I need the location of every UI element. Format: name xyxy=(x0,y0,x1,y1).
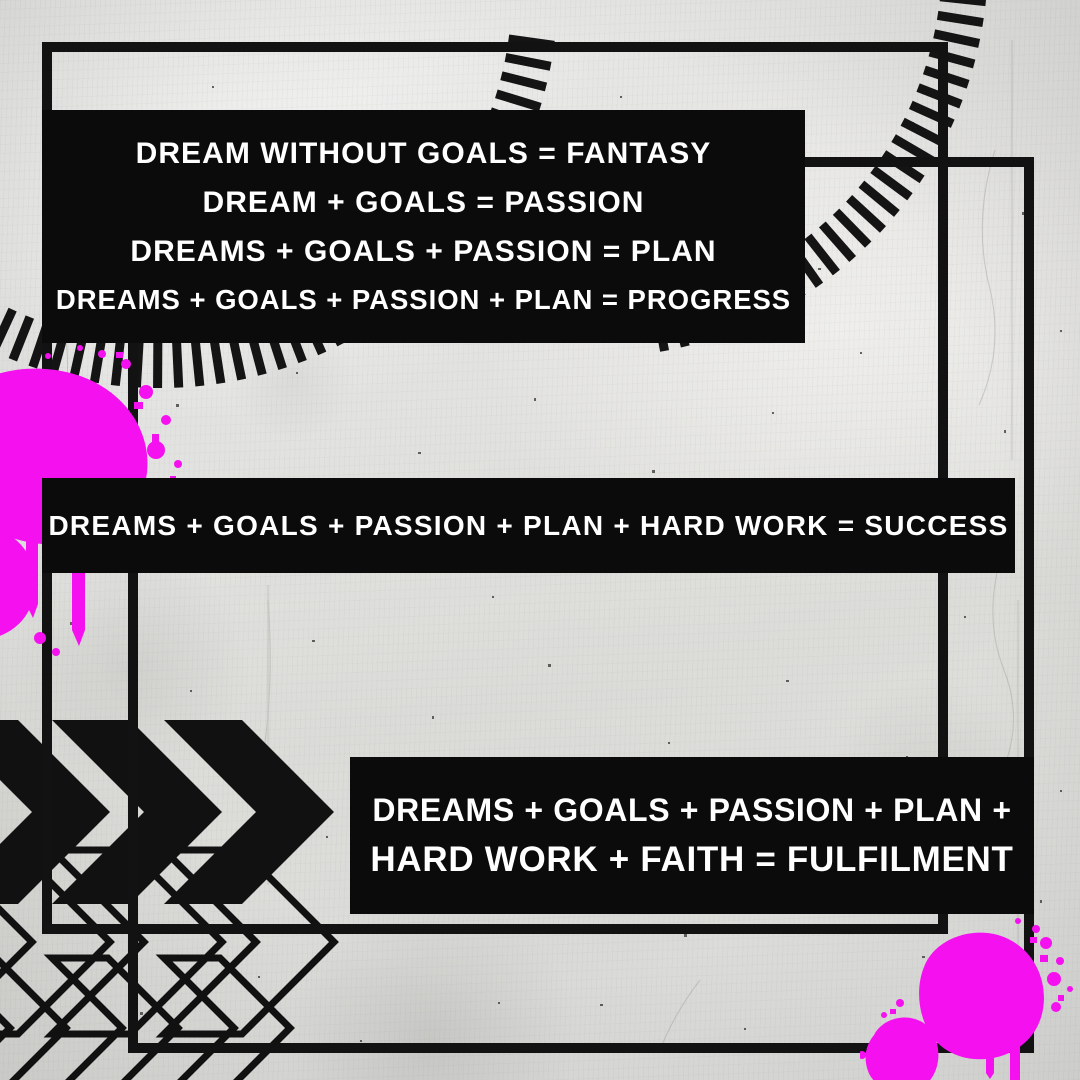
poster-canvas: DREAM WITHOUT GOALS = FANTASY DREAM + GO… xyxy=(0,0,1080,1080)
text-band-top: DREAM WITHOUT GOALS = FANTASY DREAM + GO… xyxy=(42,110,805,343)
band-top-line-4: DREAMS + GOALS + PASSION + PLAN = PROGRE… xyxy=(56,286,791,314)
band-middle-line-1: DREAMS + GOALS + PASSION + PLAN + HARD W… xyxy=(48,512,1008,540)
band-top-line-2: DREAM + GOALS = PASSION xyxy=(203,188,645,218)
text-band-middle: DREAMS + GOALS + PASSION + PLAN + HARD W… xyxy=(42,478,1015,573)
band-bottom-line-2: HARD WORK + FAITH = FULFILMENT xyxy=(370,842,1013,877)
text-band-bottom: DREAMS + GOALS + PASSION + PLAN + HARD W… xyxy=(350,757,1034,914)
band-top-line-3: DREAMS + GOALS + PASSION = PLAN xyxy=(130,237,716,267)
band-bottom-line-1: DREAMS + GOALS + PASSION + PLAN + xyxy=(372,794,1011,826)
band-top-line-1: DREAM WITHOUT GOALS = FANTASY xyxy=(136,139,712,169)
